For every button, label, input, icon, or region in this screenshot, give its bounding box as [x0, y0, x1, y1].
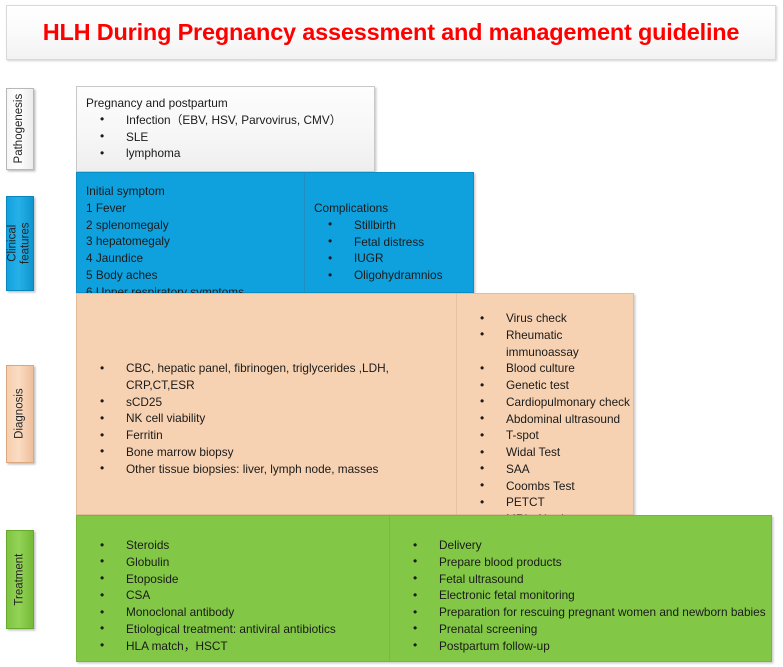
row-label-diagnosis-text: Diagnosis — [13, 389, 26, 440]
list-item: SLE — [86, 129, 374, 146]
list-item: 1 Fever — [86, 200, 304, 217]
clinical-complications-column: Complications Stillbirth Fetal distress … — [304, 173, 473, 292]
initial-symptom-heading: Initial symptom — [86, 183, 304, 200]
list-item: Electronic fetal monitoring — [399, 587, 771, 604]
row-label-diagnosis: Diagnosis — [6, 365, 34, 463]
row-label-pathogenesis: Pathogenesis — [6, 88, 34, 170]
list-item: Abdominal ultrasound — [466, 411, 633, 428]
clinical-features-panel: Initial symptom 1 Fever 2 splenomegaly 3… — [76, 172, 474, 293]
list-item: Coombs Test — [466, 478, 633, 495]
list-item: Widal Test — [466, 444, 633, 461]
row-label-treatment: Treatment — [6, 530, 34, 629]
pathogenesis-panel: Pregnancy and postpartum Infection（EBV, … — [76, 86, 375, 172]
label-line-1: Clinical — [7, 225, 19, 262]
list-item: T-spot — [466, 427, 633, 444]
row-label-pathogenesis-text: Pathogenesis — [13, 94, 26, 164]
list-item: Delivery — [399, 537, 771, 554]
list-item: Genetic test — [466, 377, 633, 394]
title-banner: HLH During Pregnancy assessment and mana… — [6, 5, 776, 60]
list-item: HLA match，HSCT — [86, 638, 389, 655]
treatment-right-list: Delivery Prepare blood products Fetal ul… — [399, 537, 771, 654]
list-item: Virus check — [466, 310, 633, 327]
list-item: Prenatal screening — [399, 621, 771, 638]
list-item: Rheumatic immunoassay — [466, 327, 633, 361]
diagnosis-left-list: CBC, hepatic panel, fibrinogen, triglyce… — [86, 360, 452, 477]
row-label-clinical-features: Clinicalfeatures — [6, 196, 34, 291]
pathogenesis-list: Infection（EBV, HSV, Parvovirus, CMV） SLE… — [86, 112, 374, 162]
list-item: Etoposide — [86, 571, 389, 588]
list-item: Globulin — [86, 554, 389, 571]
list-item: CBC, hepatic panel, fibrinogen, triglyce… — [86, 360, 452, 394]
treatment-right-column: Delivery Prepare blood products Fetal ul… — [389, 516, 771, 661]
pathogenesis-content: Pregnancy and postpartum Infection（EBV, … — [77, 87, 374, 162]
list-item: Ferritin — [86, 427, 452, 444]
clinical-initial-symptom-column: Initial symptom 1 Fever 2 splenomegaly 3… — [77, 173, 304, 292]
list-item: Postpartum follow-up — [399, 638, 771, 655]
treatment-panel: Steroids Globulin Etoposide CSA Monoclon… — [76, 515, 772, 662]
list-item: Monoclonal antibody — [86, 604, 389, 621]
diagnosis-left-column: CBC, hepatic panel, fibrinogen, triglyce… — [77, 294, 456, 514]
list-item: 3 hepatomegaly — [86, 233, 304, 250]
list-item: 2 splenomegaly — [86, 217, 304, 234]
list-item: Blood culture — [466, 360, 633, 377]
diagnosis-right-list: Virus check Rheumatic immunoassay Blood … — [466, 310, 633, 528]
list-item: PETCT — [466, 494, 633, 511]
list-item: SAA — [466, 461, 633, 478]
list-item: Stillbirth — [314, 217, 473, 234]
page-title: HLH During Pregnancy assessment and mana… — [43, 19, 740, 46]
complications-heading: Complications — [314, 200, 473, 217]
row-label-treatment-text: Treatment — [13, 554, 26, 606]
diagnosis-panel: CBC, hepatic panel, fibrinogen, triglyce… — [76, 293, 634, 515]
list-item: CSA — [86, 587, 389, 604]
label-line-2: features — [20, 223, 32, 265]
list-item: Etiological treatment: antiviral antibio… — [86, 621, 389, 638]
list-item: lymphoma — [86, 145, 374, 162]
list-item: 5 Body aches — [86, 267, 304, 284]
treatment-left-column: Steroids Globulin Etoposide CSA Monoclon… — [77, 516, 389, 661]
list-item: NK cell viability — [86, 410, 452, 427]
diagnosis-right-column: Virus check Rheumatic immunoassay Blood … — [456, 294, 633, 514]
row-label-clinical-features-text: Clinicalfeatures — [7, 223, 33, 265]
list-item: Preparation for rescuing pregnant women … — [399, 604, 771, 621]
list-item: Cardiopulmonary check — [466, 394, 633, 411]
pathogenesis-heading: Pregnancy and postpartum — [86, 95, 374, 112]
complications-list: Stillbirth Fetal distress IUGR Oligohydr… — [314, 217, 473, 284]
initial-symptom-list: 1 Fever 2 splenomegaly 3 hepatomegaly 4 … — [86, 200, 304, 301]
list-item: Steroids — [86, 537, 389, 554]
list-item: Other tissue biopsies: liver, lymph node… — [86, 461, 452, 478]
list-item: Fetal distress — [314, 234, 473, 251]
treatment-left-list: Steroids Globulin Etoposide CSA Monoclon… — [86, 537, 389, 654]
list-item: Infection（EBV, HSV, Parvovirus, CMV） — [86, 112, 374, 129]
list-item: sCD25 — [86, 394, 452, 411]
diagnosis-left-content: CBC, hepatic panel, fibrinogen, triglyce… — [86, 360, 452, 477]
list-item: Fetal ultrasound — [399, 571, 771, 588]
list-item: Oligohydramnios — [314, 267, 473, 284]
list-item: IUGR — [314, 250, 473, 267]
list-item: 4 Jaundice — [86, 250, 304, 267]
list-item: Prepare blood products — [399, 554, 771, 571]
list-item: Bone marrow biopsy — [86, 444, 452, 461]
